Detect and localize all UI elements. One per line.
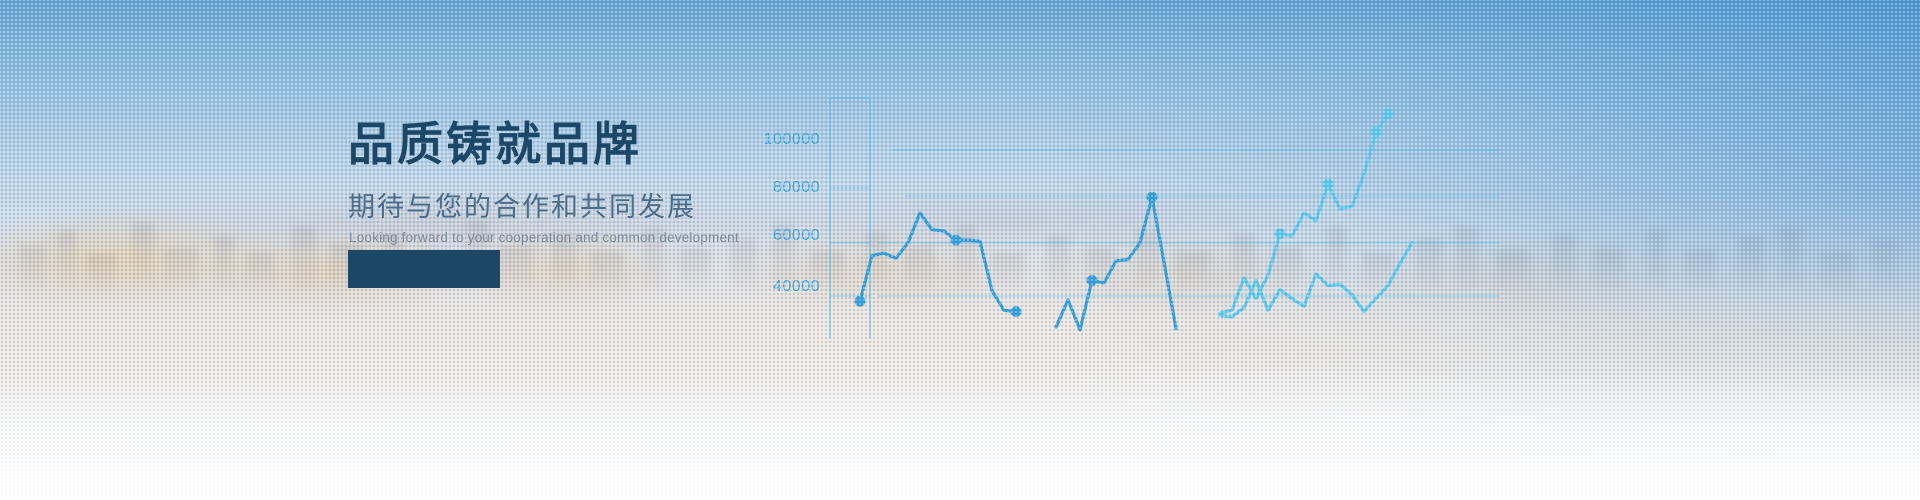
- background-bottom-fade: [0, 370, 1920, 500]
- hero-banner: 100000 80000 60000 40000 品质铸就品牌 期待与您的合作和…: [0, 0, 1920, 500]
- hero-copy: 品质铸就品牌 期待与您的合作和共同发展 Looking forward to y…: [348, 120, 1048, 246]
- subtitle-english: Looking forward to your cooperation and …: [349, 231, 1048, 246]
- cta-button[interactable]: [348, 250, 500, 288]
- subtitle-chinese: 期待与您的合作和共同发展: [348, 193, 1048, 223]
- page-title: 品质铸就品牌: [348, 120, 1048, 169]
